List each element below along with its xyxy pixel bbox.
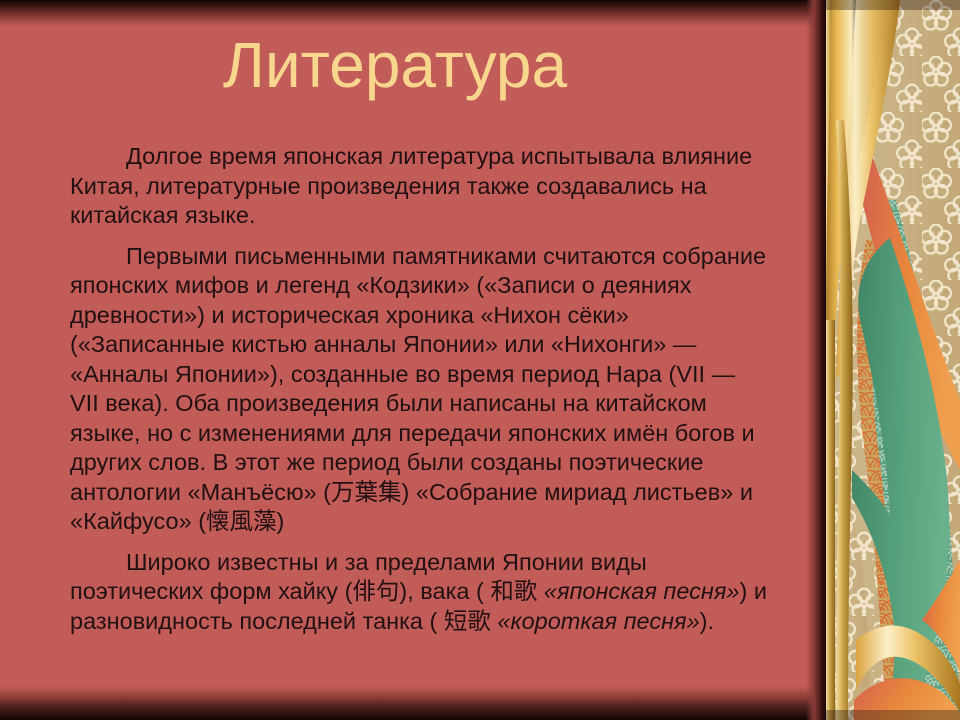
bottom-edge-shading	[0, 686, 822, 720]
italic-text-japanese-song: «японская песня»	[544, 578, 740, 604]
border-bottom-shadow	[826, 710, 960, 720]
japanese-text-kaifuso: 懐風藻	[206, 507, 277, 535]
border-top-shadow	[826, 0, 960, 10]
text-run: )	[277, 508, 285, 534]
japanese-text-tanka: 短歌	[444, 607, 491, 635]
text-run: Первыми письменными памятниками считаютс…	[70, 243, 766, 505]
text-run: ), вака (	[399, 578, 490, 604]
japanese-text-manyoshu: 万葉集	[331, 478, 402, 506]
paragraph-3: Широко известны и за пределами Японии ви…	[70, 548, 770, 637]
japanese-text-haiku: 俳句	[352, 577, 399, 605]
presentation-slide: Литература Долгое время японская литерат…	[0, 0, 960, 720]
slide-body-text: Долгое время японская литература испытыв…	[70, 142, 770, 636]
japanese-text-waka: 和歌	[490, 577, 537, 605]
paragraph-1: Долгое время японская литература испытыв…	[70, 142, 770, 231]
italic-text-short-song: «короткая песня»	[497, 608, 699, 634]
slide-canvas: Литература Долгое время японская литерат…	[0, 0, 822, 720]
slide-title: Литература	[0, 32, 790, 99]
text-run: ).	[700, 608, 714, 634]
top-edge-shading	[0, 0, 822, 26]
japanese-kimono-border-decoration	[826, 0, 960, 720]
right-edge-shading	[806, 0, 826, 720]
paragraph-2: Первыми письменными памятниками считаютс…	[70, 242, 770, 537]
text-run: Долгое время японская литература испытыв…	[70, 143, 752, 228]
